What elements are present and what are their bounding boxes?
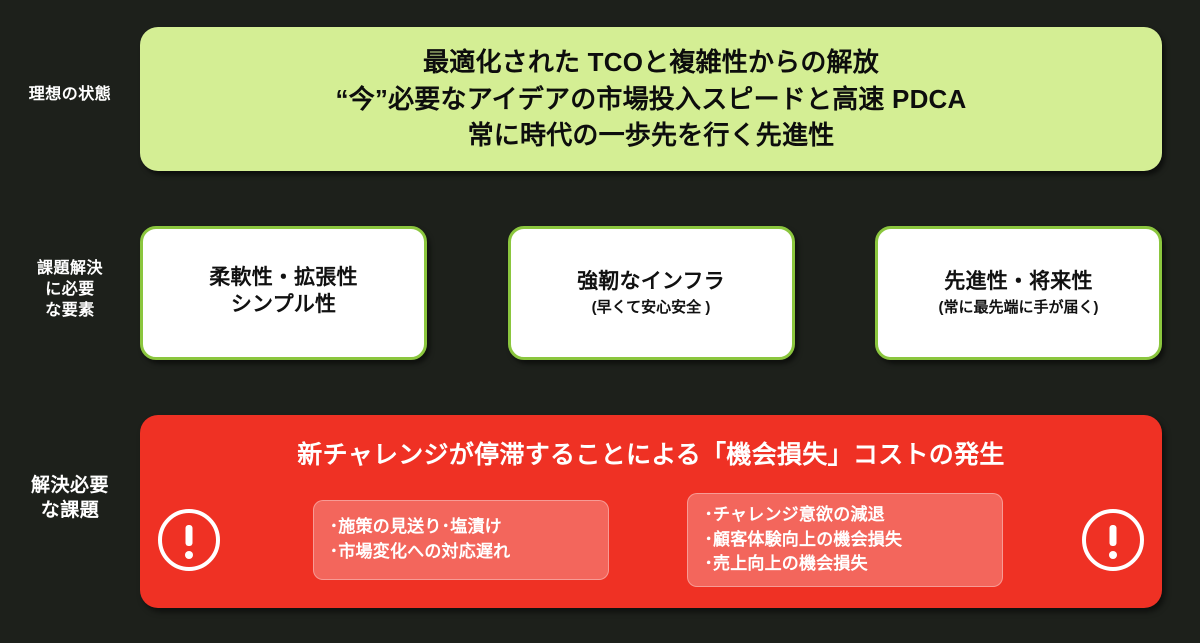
issues-heading: 新チャレンジが停滞することによる「機会損失」コストの発生	[140, 435, 1162, 471]
row-label-issues-to-solve: 解決必要 な課題	[0, 473, 140, 523]
ideal-state-panel: 最適化された TCOと複雑性からの解放 “今”必要なアイデアの市場投入スピードと…	[140, 27, 1162, 171]
issue-sub-box-text: ･チャレンジ意欲の減退 ･顧客体験向上の機会損失 ･売上向上の機会損失	[704, 503, 902, 577]
slide-canvas: 理想の状態 課題解決 に必要 な要素 解決必要 な課題 最適化された TCOと複…	[0, 0, 1200, 643]
issues-panel: 新チャレンジが停滞することによる「機会損失」コストの発生 ･施策の見送り･塩漬け…	[140, 415, 1162, 608]
element-card-innovation[interactable]: 先進性・将来性 (常に最先端に手が届く)	[875, 226, 1162, 360]
element-card-flexibility[interactable]: 柔軟性・拡張性 シンプル性	[140, 226, 427, 360]
required-elements-row: 柔軟性・拡張性 シンプル性 強靭なインフラ (早くて安心安全 ) 先進性・将来性…	[140, 226, 1162, 360]
exclamation-circle-icon	[1082, 509, 1144, 571]
element-card-subtitle: (常に最先端に手が届く)	[939, 298, 1099, 318]
issues-body: ･施策の見送り･塩漬け ･市場変化への対応遅れ ･チャレンジ意欲の減退 ･顧客体…	[140, 485, 1162, 595]
row-label-required-elements: 課題解決 に必要 な要素	[0, 258, 140, 321]
exclamation-circle-icon	[158, 509, 220, 571]
element-card-title: 先進性・将来性	[944, 269, 1092, 296]
issue-sub-box-left: ･施策の見送り･塩漬け ･市場変化への対応遅れ	[313, 500, 609, 580]
element-card-subtitle: (早くて安心安全 )	[592, 298, 711, 318]
row-label-ideal-state: 理想の状態	[0, 84, 140, 105]
element-card-infrastructure[interactable]: 強靭なインフラ (早くて安心安全 )	[508, 226, 795, 360]
element-card-title: 柔軟性・拡張性 シンプル性	[209, 265, 357, 319]
issue-sub-box-right: ･チャレンジ意欲の減退 ･顧客体験向上の機会損失 ･売上向上の機会損失	[687, 493, 1003, 587]
ideal-state-text: 最適化された TCOと複雑性からの解放 “今”必要なアイデアの市場投入スピードと…	[336, 44, 967, 155]
element-card-title: 強靭なインフラ	[577, 269, 725, 296]
issue-sub-box-text: ･施策の見送り･塩漬け ･市場変化への対応遅れ	[330, 515, 511, 564]
